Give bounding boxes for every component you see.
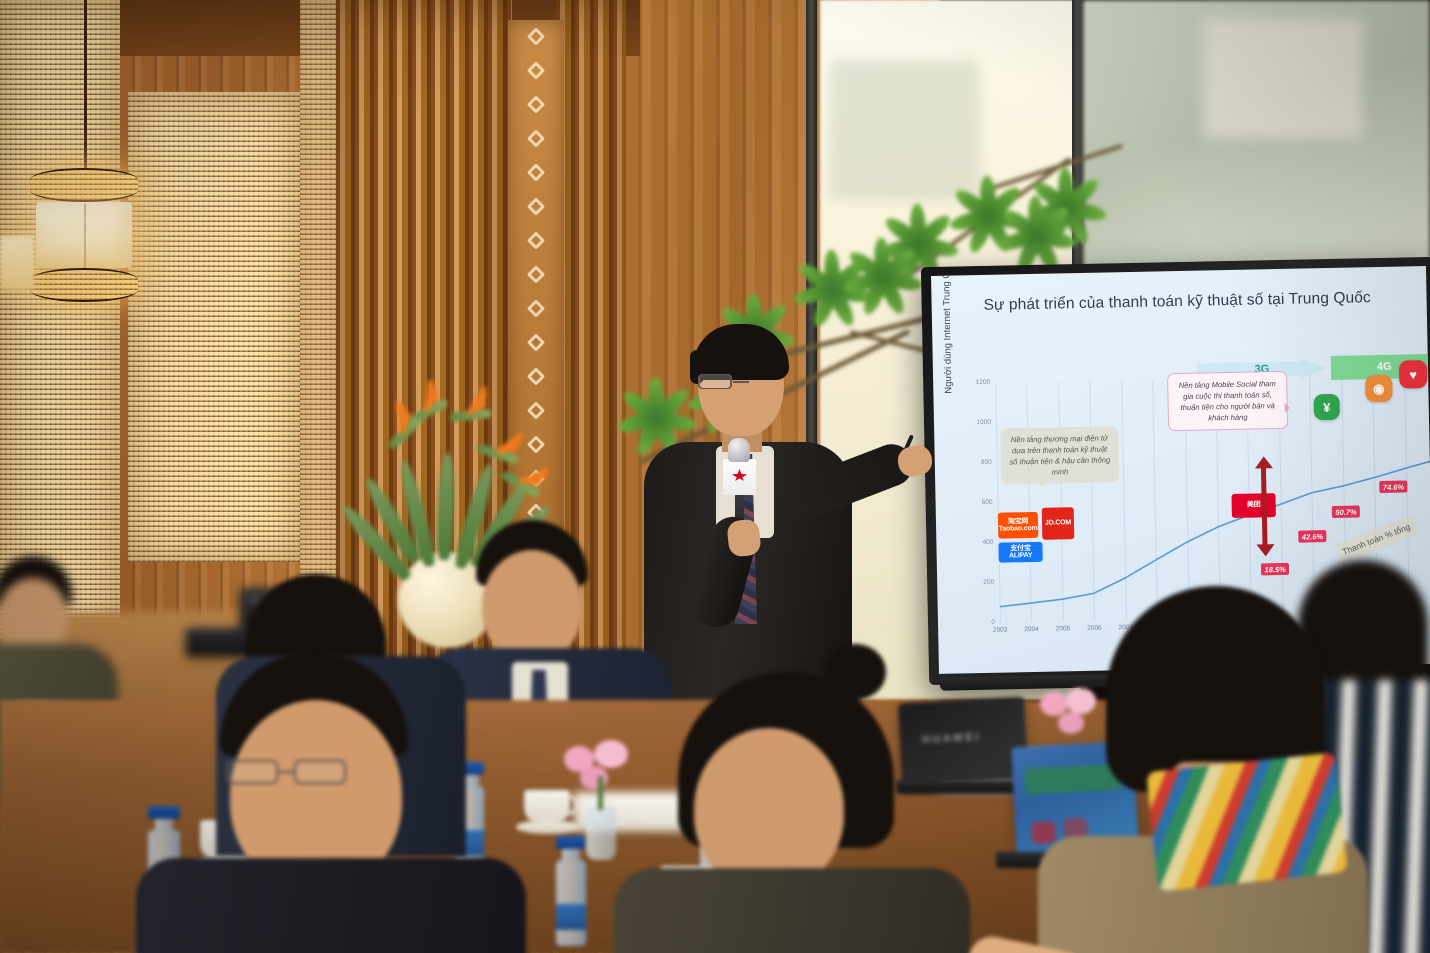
motif-diamond bbox=[527, 129, 545, 147]
presenter-glasses bbox=[698, 374, 784, 389]
chart-y-tick: 400 bbox=[982, 539, 993, 546]
cane-screen-panel bbox=[300, 0, 336, 600]
meituan-logo: 美团 bbox=[1231, 493, 1275, 518]
cane-screen-panel bbox=[128, 92, 300, 562]
attendee-head bbox=[0, 578, 68, 654]
bird-of-paradise-leaf bbox=[436, 452, 456, 560]
plant-leaf-cluster bbox=[846, 242, 920, 298]
attendee-body bbox=[614, 868, 970, 953]
motif-diamond bbox=[527, 95, 545, 113]
chart-x-tick: 2006 bbox=[1087, 625, 1102, 632]
orange-app-icon: ◉ bbox=[1365, 375, 1393, 403]
bird-of-paradise-flower bbox=[449, 405, 496, 426]
secondary-lamp bbox=[0, 236, 34, 290]
presenter-hair bbox=[693, 324, 789, 380]
chart-y-tick: 1000 bbox=[976, 419, 991, 426]
lamp-bottom-ring bbox=[30, 268, 138, 302]
cane-screen-panel bbox=[0, 0, 120, 640]
chart-y-tick: 0 bbox=[991, 619, 995, 626]
motif-diamond bbox=[527, 231, 545, 249]
wechat-pay-icon: ¥ bbox=[1313, 394, 1340, 421]
chart-y-axis-label: Người dùng Internet Trung Quốc (triệu) bbox=[940, 266, 954, 394]
chart-y-tick: 600 bbox=[982, 499, 993, 506]
pct-18-5: 18.5% bbox=[1261, 563, 1290, 576]
chart-y-tick: 1200 bbox=[976, 379, 991, 386]
lamp-top-ring bbox=[30, 168, 138, 202]
motif-diamond bbox=[527, 333, 545, 351]
motif-diamond bbox=[527, 299, 545, 317]
motif-diamond bbox=[527, 367, 545, 385]
pct-74-6: 74.6% bbox=[1379, 480, 1408, 493]
bird-of-paradise-flower bbox=[384, 410, 428, 453]
plant-leaf-cluster bbox=[1000, 200, 1074, 256]
taobao-logo: 淘宝网 Taobao.com bbox=[998, 512, 1039, 539]
slide-title: Sự phát triển của thanh toán kỹ thuật số… bbox=[983, 289, 1403, 315]
attendee-glasses bbox=[226, 760, 346, 784]
pct-42-6: 42.6% bbox=[1298, 530, 1327, 543]
chart-x-tick: 2003 bbox=[993, 627, 1008, 634]
chart-y-tick: 200 bbox=[983, 579, 994, 586]
huawei-brand-text: HUAWEI bbox=[922, 731, 982, 746]
alipay-logo: 支付宝 ALIPAY bbox=[998, 542, 1042, 563]
huawei-laptop-lid[interactable]: HUAWEI bbox=[898, 697, 1028, 785]
chart-x-tick: 2005 bbox=[1056, 625, 1071, 632]
motif-diamond bbox=[527, 163, 545, 181]
attendee-body bbox=[136, 858, 526, 953]
callout-mobile-social: Nền tảng Mobile Social tham gia cuộc thi… bbox=[1167, 371, 1288, 431]
pct-50-7: 50.7% bbox=[1332, 505, 1361, 518]
bird-of-paradise-flower bbox=[476, 440, 525, 469]
microphone-head bbox=[728, 438, 750, 462]
lamp-cord bbox=[84, 0, 87, 172]
motif-diamond bbox=[527, 61, 545, 79]
motif-diamond bbox=[527, 27, 545, 45]
jd-logo: JD.COM bbox=[1042, 507, 1075, 540]
xiaohongshu-icon: ♥ bbox=[1399, 360, 1428, 389]
callout-ecommerce: Nền tảng thương mại điện tử dựa trên tha… bbox=[1000, 426, 1119, 484]
attendee-head bbox=[694, 728, 844, 890]
attendee-head bbox=[482, 550, 582, 662]
conference-room-scene: Sự phát triển của thanh toán kỹ thuật số… bbox=[0, 0, 1430, 953]
small-flower-vase bbox=[556, 740, 646, 860]
motif-diamond bbox=[527, 197, 545, 215]
attendee-scarf bbox=[1146, 752, 1348, 891]
pendant-lamp bbox=[28, 168, 140, 302]
window-pane-right bbox=[1083, 0, 1430, 268]
chart-x-tick: 2004 bbox=[1024, 626, 1039, 633]
chart-y-tick: 800 bbox=[981, 459, 992, 466]
lamp-shade bbox=[36, 202, 132, 268]
motif-diamond bbox=[527, 265, 545, 283]
microphone-flag bbox=[723, 459, 756, 495]
presenter-left-hand bbox=[726, 518, 762, 557]
